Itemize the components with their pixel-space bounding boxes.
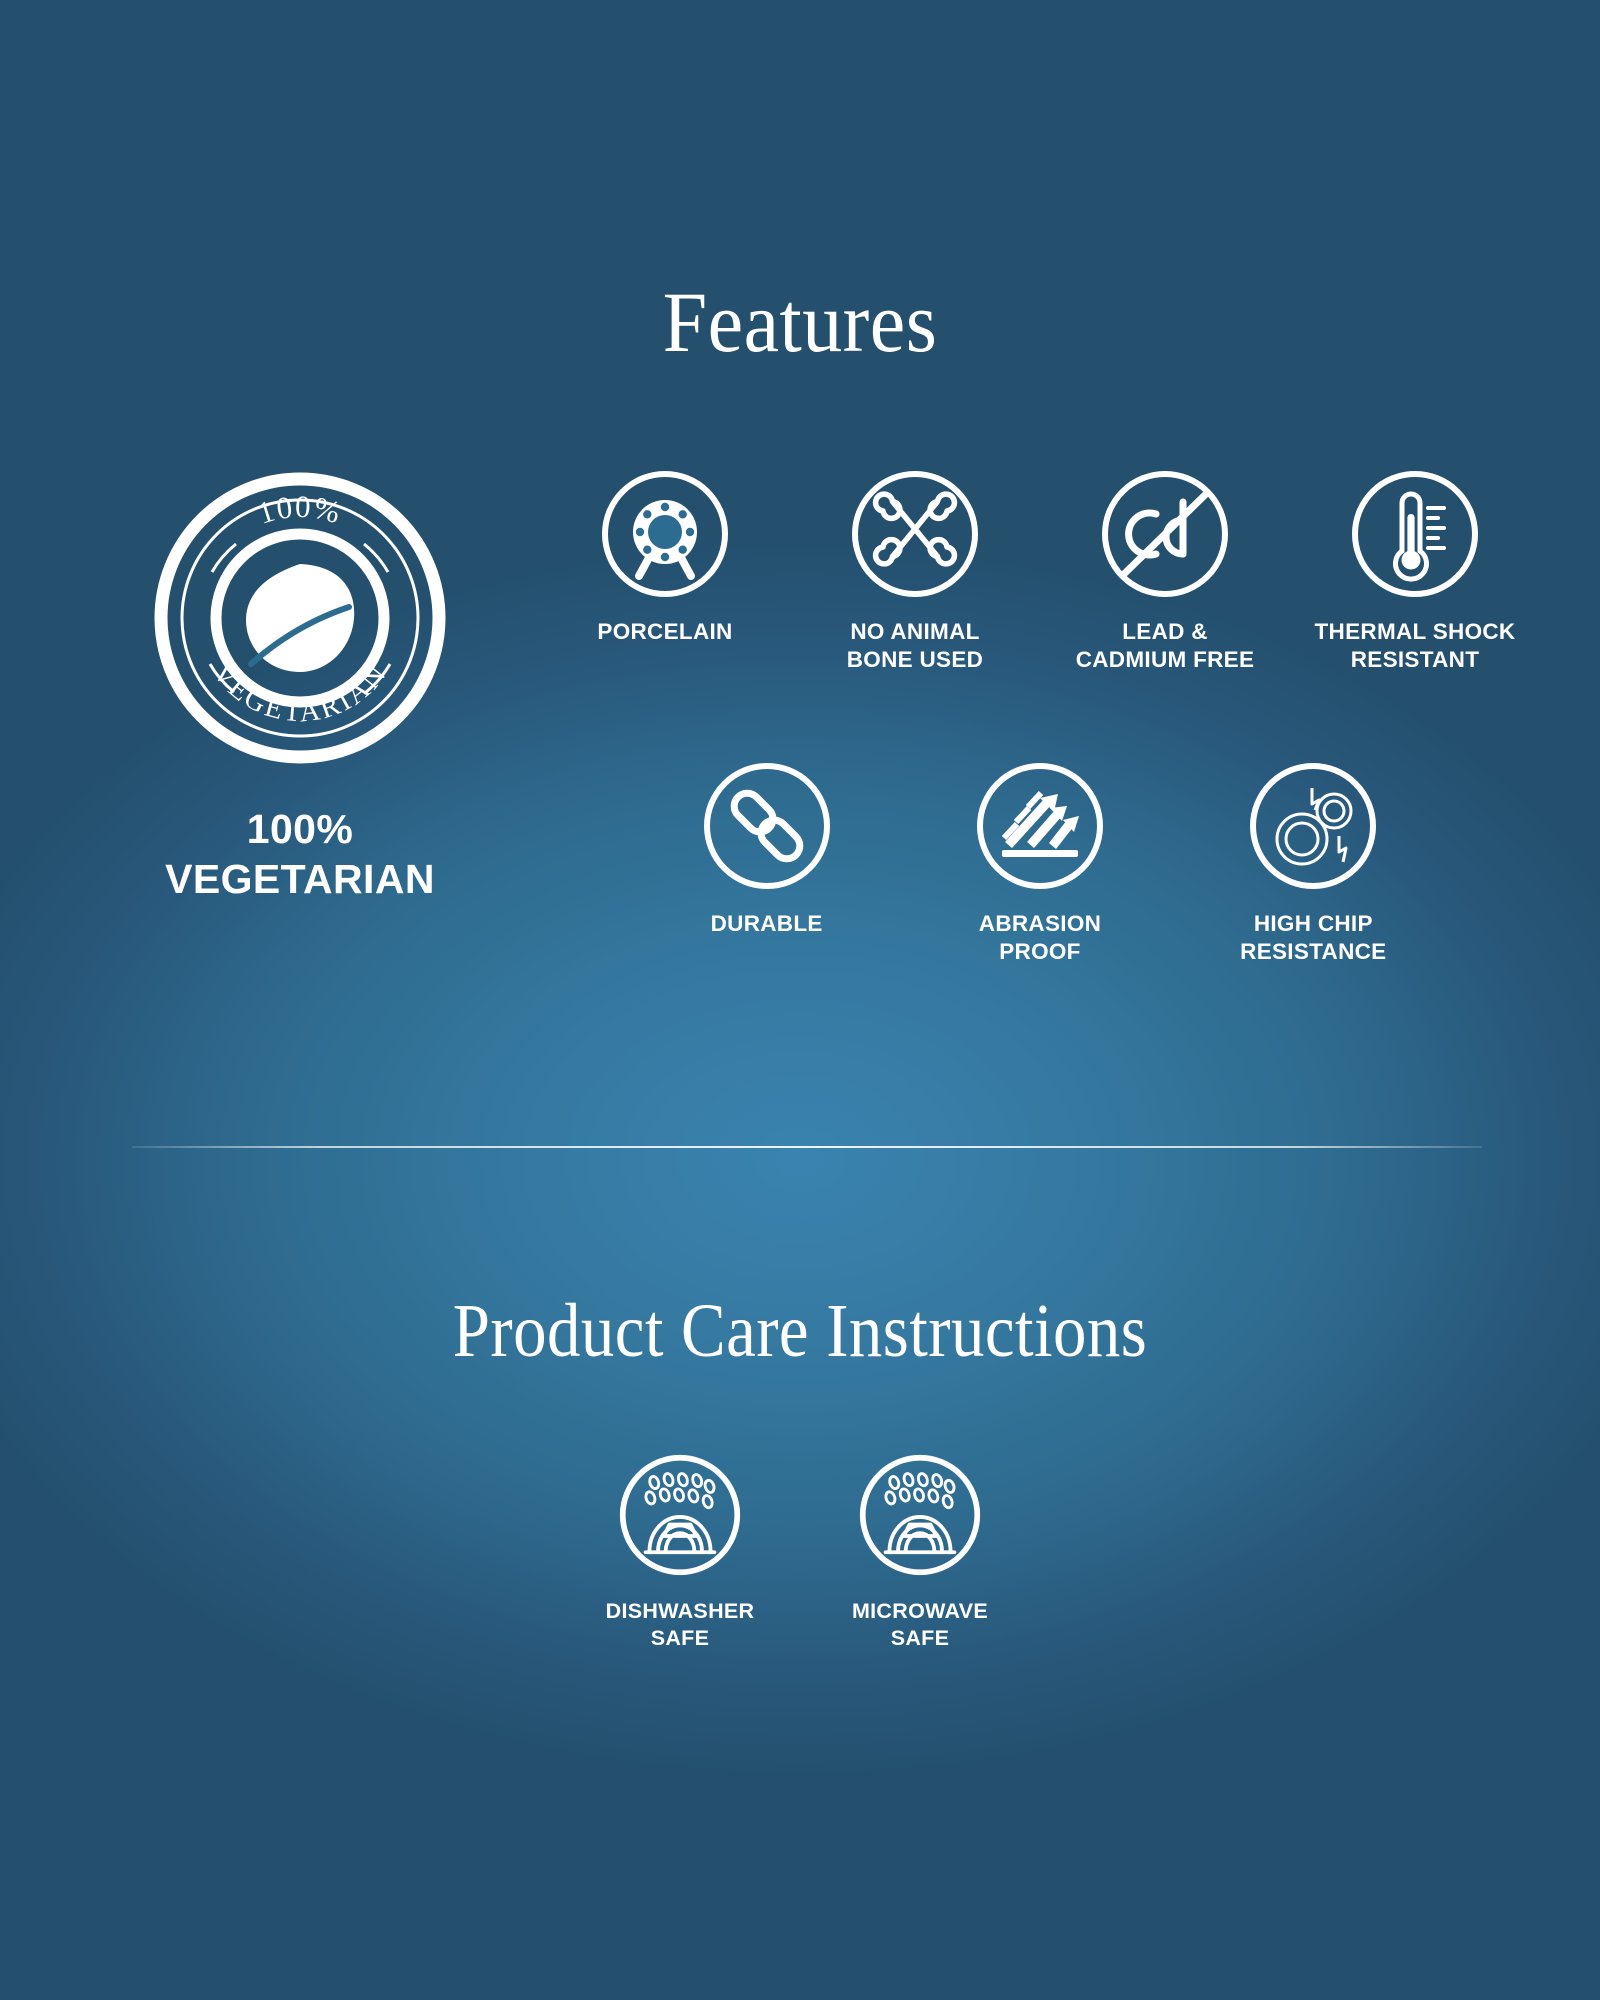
feature-thermal-shock: THERMAL SHOCK RESISTANT [1290, 468, 1540, 674]
feature-label: PORCELAIN [597, 618, 732, 646]
care-label: DISHWASHER SAFE [606, 1598, 755, 1651]
feature-lead-cadmium-free: LEAD & CADMIUM FREE [1040, 468, 1290, 674]
deflected-arrows-icon [974, 760, 1106, 892]
care-icons-row: DISHWASHER SAFE [560, 1452, 1040, 1651]
feature-label: DURABLE [711, 910, 823, 938]
feature-durable: DURABLE [630, 760, 903, 966]
vegetarian-seal-label: 100% VEGETARIAN [100, 804, 500, 904]
seal-top-text: 100% [253, 489, 345, 531]
care-label: MICROWAVE SAFE [852, 1598, 988, 1651]
features-row-2: DURABLE [630, 760, 1450, 966]
features-row-1: PORCELAIN NO ANIMAL BONE USED [540, 468, 1540, 674]
feature-high-chip-resistance: HIGH CHIP RESISTANCE [1177, 760, 1450, 966]
section-divider [132, 1146, 1482, 1148]
infographic-page: Features 100% [0, 0, 1600, 2000]
microwave-icon [857, 1452, 983, 1578]
chipped-plates-icon [1247, 760, 1379, 892]
crossed-bones-icon [849, 468, 981, 600]
no-cadmium-icon [1099, 468, 1231, 600]
care-dishwasher-safe: DISHWASHER SAFE [560, 1452, 800, 1651]
feature-label: NO ANIMAL BONE USED [847, 618, 983, 674]
feature-label: LEAD & CADMIUM FREE [1076, 618, 1255, 674]
porcelain-plate-icon [599, 468, 731, 600]
thermometer-icon [1349, 468, 1481, 600]
feature-label: ABRASION PROOF [979, 910, 1101, 966]
feature-no-animal-bone: NO ANIMAL BONE USED [790, 468, 1040, 674]
vegetarian-seal-icon: 100% VEGETARIAN [150, 468, 450, 768]
feature-porcelain: PORCELAIN [540, 468, 790, 674]
dishwasher-icon [617, 1452, 743, 1578]
chain-link-icon [701, 760, 833, 892]
features-section-title: Features [56, 272, 1544, 372]
feature-abrasion-proof: ABRASION PROOF [903, 760, 1176, 966]
care-section-title: Product Care Instructions [96, 1288, 1504, 1375]
feature-label: THERMAL SHOCK RESISTANT [1315, 618, 1516, 674]
vegetarian-seal-block: 100% VEGETARIAN 100% VEGETARIAN [100, 468, 500, 904]
care-microwave-safe: MICROWAVE SAFE [800, 1452, 1040, 1651]
feature-label: HIGH CHIP RESISTANCE [1240, 910, 1386, 966]
